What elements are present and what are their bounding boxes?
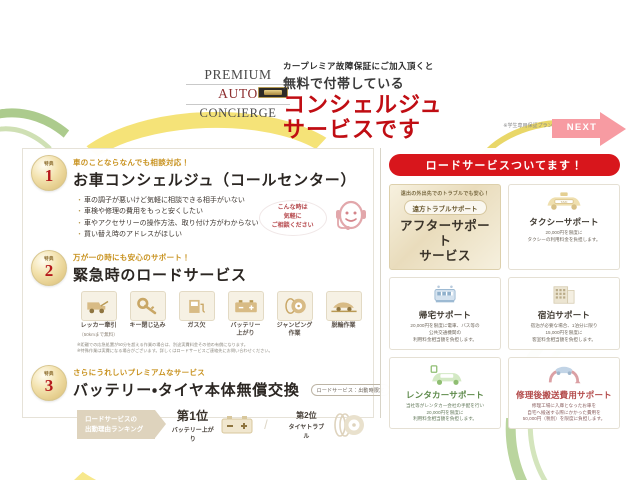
- next-label: NEXT: [558, 122, 606, 133]
- benefit-1-kicker: 車のことならなんでも相談対応！: [73, 157, 365, 168]
- road-service-banner: ロードサービスついてます！: [389, 154, 620, 176]
- benefit-1-bullet-list: 車の調子が悪いけど気軽に相談できる相手がいない 車検や修理の費用をもっと安くした…: [77, 195, 259, 240]
- battery-icon: [220, 414, 254, 436]
- benefit-2-fineprint: ※距離での応急処置が50分を超える作業の場合は、別途実費料金その他の有償になりま…: [77, 342, 365, 355]
- benefit-2-kicker: 万が一の時にも安心のサポート！: [73, 252, 365, 263]
- card-transport-cost-support[interactable]: 修理後搬送費用サポート 修理工場に入庫となったお車を自宅へ搬送する際にかかった費…: [508, 357, 620, 430]
- header-title-line2: サービスです: [283, 118, 442, 142]
- service-label: レッカー牽引: [77, 323, 120, 331]
- card-title: 宿泊サポート: [538, 309, 590, 321]
- service-label: キー閉じ込み: [126, 323, 169, 331]
- card-taxi-support[interactable]: TAXI タクシーサポート 20,000円を限度にタクシーの利用料金を負担します…: [508, 184, 620, 270]
- card-description: 宿泊が必要な場合、1泊分に限り15,000円を限度に客室料金相当額を負担します。: [531, 323, 598, 344]
- taxi-icon: TAXI: [542, 190, 586, 214]
- tire-icon: [331, 412, 365, 438]
- card-description: 修理工場に入庫となったお車を自宅へ搬送する際にかかった費用を50,000円（税別…: [523, 403, 606, 424]
- headset-operator-icon: [329, 198, 373, 238]
- status-badge: ロードサービス：出動時限定: [311, 384, 391, 396]
- card-return-home-support[interactable]: 帰宅サポート 20,000円を限度に電車、バス等の公共交通機関の利用料金相当額を…: [389, 277, 501, 350]
- benefit-1-medal: 特典 1: [31, 155, 67, 191]
- service-item-tow: レッカー牽引 （50kmまで無料）: [77, 291, 120, 339]
- service-item-battery: バッテリー上がり: [224, 291, 267, 339]
- brand-logo: PREMIUM AUTO CONCIERGE: [186, 66, 290, 122]
- service-item-stuck: 脱輪作業: [322, 291, 365, 339]
- benefit-3-kicker: さらにうれしいプレミアムなサービス: [73, 367, 365, 378]
- card-title: タクシーサポート: [529, 216, 598, 228]
- tow-truck-icon: [81, 291, 117, 321]
- train-icon: [424, 283, 466, 307]
- card-description: 20,000円を限度にタクシーの利用料金を負担します。: [527, 230, 600, 244]
- service-sublabel: （50kmまで無料）: [77, 332, 120, 338]
- ranking-tag-line-2: 出動理由ランキング: [85, 426, 143, 433]
- bubble-line-2: 気軽に: [284, 214, 302, 220]
- benefit-3-title-text: バッテリー・タイヤ本体無償交換: [73, 382, 300, 399]
- dispatch-reason-ranking: ロードサービスの 出動理由ランキング 第1位 バッテリー上がり /: [77, 407, 365, 443]
- transport-icon: [542, 363, 586, 387]
- road-service-icon-row: レッカー牽引 （50kmまで無料） キー閉じ込み: [77, 291, 365, 339]
- jumper-tire-icon: [277, 291, 313, 321]
- bubble-line-3: ご相談ください: [272, 223, 314, 229]
- logo-line-premium: PREMIUM: [186, 66, 290, 85]
- next-button[interactable]: NEXT: [552, 112, 632, 146]
- card-title: 帰宅サポート: [419, 309, 471, 321]
- key-icon: [130, 291, 166, 321]
- rank-2-label: タイヤトラブル: [288, 422, 325, 440]
- rank-1: 第1位 バッテリー上がり: [171, 407, 214, 443]
- header-title-line1: コンシェルジュ: [283, 93, 442, 117]
- rental-car-icon: [423, 363, 467, 387]
- benefit-2-medal-number: 2: [32, 263, 66, 279]
- benefit-2-title: 緊急時のロードサービス: [73, 264, 365, 285]
- benefit-3-medal-number: 3: [32, 378, 66, 394]
- benefit-block-2: 特典 2 万が一の時にも安心のサポート！ 緊急時のロードサービス: [23, 244, 373, 358]
- service-item-fuel: ガス欠: [175, 291, 218, 339]
- svg-text:TAXI: TAXI: [561, 200, 568, 204]
- list-item: 車検や修理の費用をもっと安くしたい: [77, 206, 259, 217]
- service-label: ガス欠: [175, 323, 218, 331]
- consult-speech-bubble: こんな時は 気軽に ご相談ください: [259, 200, 327, 236]
- stuck-car-icon: [326, 291, 362, 321]
- ranking-tag: ロードサービスの 出動理由ランキング: [77, 410, 155, 439]
- card-lodging-support[interactable]: 宿泊サポート 宿泊が必要な場合、1泊分に限り15,000円を限度に客室料金相当額…: [508, 277, 620, 350]
- hotel-icon: [545, 283, 583, 307]
- list-item: 車の調子が悪いけど気軽に相談できる相手がいない: [77, 195, 259, 206]
- card-description: 20,000円を限度に電車、バス等の公共交通機関の利用料金相当額を負担します。: [410, 323, 479, 344]
- rank-2: 第2位 タイヤトラブル: [288, 410, 325, 440]
- road-service-panel: ロードサービスついてます！ 遠出の外出先でのトラブルでも安心！ 遠方トラブルサポ…: [380, 148, 628, 418]
- page-header: PREMIUM AUTO CONCIERGE カープレミア故障保証にご加入頂くと…: [0, 56, 640, 130]
- service-label: ジャンピング作業: [273, 323, 316, 339]
- benefit-1-title: お車コンシェルジュ（コールセンター）: [73, 169, 365, 190]
- battery-icon: [228, 291, 264, 321]
- bubble-line-1: こんな時は: [278, 205, 308, 211]
- benefit-3-medal: 特典 3: [31, 365, 67, 401]
- rank-1-label: バッテリー上がり: [171, 425, 214, 443]
- benefit-block-1: 特典 1 車のことならなんでも相談対応！ お車コンシェルジュ（コールセンター） …: [23, 149, 373, 244]
- card-title: レンタカーサポート: [406, 389, 484, 401]
- header-subtitle: 無料で付帯している: [283, 73, 442, 92]
- card-after-support[interactable]: 遠出の外出先でのトラブルでも安心！ 遠方トラブルサポート アフターサポート サー…: [389, 184, 501, 270]
- service-item-jumping: ジャンピング作業: [273, 291, 316, 339]
- card-pill-label: 遠方トラブルサポート: [404, 200, 487, 215]
- benefit-1-medal-number: 1: [32, 168, 66, 184]
- rank-1-position: 第1位: [171, 407, 214, 424]
- ranking-tag-line-1: ロードサービスの: [85, 416, 137, 423]
- benefit-2-medal: 特典 2: [31, 250, 67, 286]
- card-title: 修理後搬送費用サポート: [516, 389, 612, 401]
- card-rental-car-support[interactable]: レンタカーサポート 当社等がレンタカー会社の手配を行い20,000円を限度に利用…: [389, 357, 501, 430]
- list-item: 車やアクセサリーの操作方法、取り付け方がわからない: [77, 218, 259, 229]
- benefit-block-3: 特典 3 さらにうれしいプレミアムなサービス バッテリー・タイヤ本体無償交換 ロ…: [23, 359, 373, 447]
- card-description: 当社等がレンタカー会社の手配を行い20,000円を限度に利用料金相当額を負担しま…: [406, 403, 484, 424]
- list-item: 買い替え時のアドレスがほしい: [77, 229, 259, 240]
- fuel-pump-icon: [179, 291, 215, 321]
- benefits-panel: 特典 1 車のことならなんでも相談対応！ お車コンシェルジュ（コールセンター） …: [22, 148, 374, 418]
- logo-line-concierge: CONCIERGE: [186, 105, 290, 122]
- rank-2-position: 第2位: [288, 410, 325, 421]
- road-service-card-grid: 遠出の外出先でのトラブルでも安心！ 遠方トラブルサポート アフターサポート サー…: [389, 184, 620, 429]
- rank-separator: /: [264, 417, 268, 432]
- fineprint-line-2: ※特殊作業は実費になる場合がございます。詳しくはロードサービスご連絡先にお問い合…: [77, 348, 365, 354]
- card-title-line2: サービス: [419, 249, 471, 264]
- promo-page: PREMIUM AUTO CONCIERGE カープレミア故障保証にご加入頂くと…: [0, 0, 640, 480]
- header-kicker: カープレミア故障保証にご加入頂くと: [283, 60, 442, 72]
- card-kicker: 遠出の外出先でのトラブルでも安心！: [401, 190, 489, 197]
- benefit-3-title: バッテリー・タイヤ本体無償交換 ロードサービス：出動時限定: [73, 379, 365, 400]
- service-label: バッテリー上がり: [224, 323, 267, 339]
- road-service-banner-label: ロードサービスついてます！: [426, 157, 584, 173]
- header-text-block: カープレミア故障保証にご加入頂くと 無料で付帯している コンシェルジュ サービス…: [283, 60, 442, 142]
- service-label: 脱輪作業: [322, 323, 365, 331]
- card-title: アフターサポート: [394, 219, 496, 249]
- service-item-key: キー閉じ込み: [126, 291, 169, 339]
